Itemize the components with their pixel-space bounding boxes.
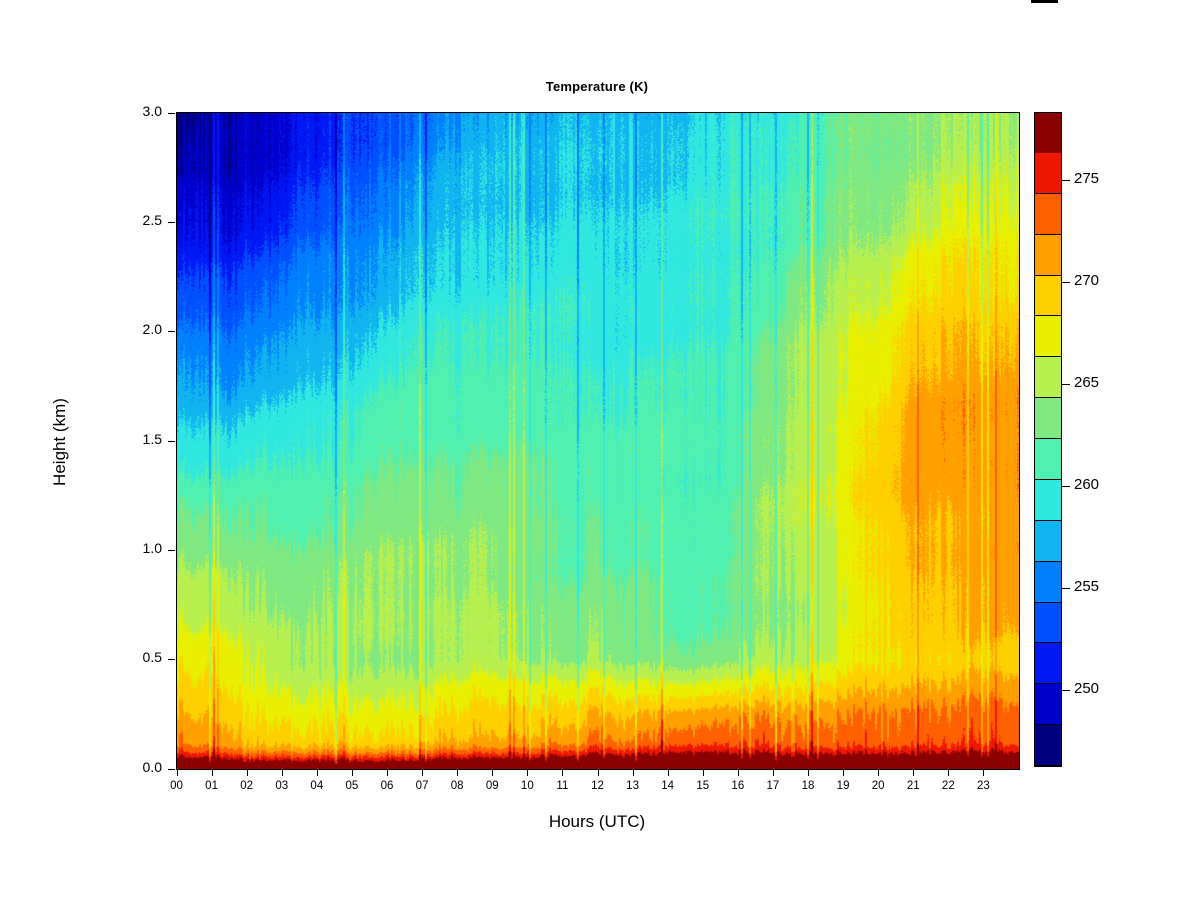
x-tick-label: 13: [613, 780, 653, 792]
colorbar-block: [1035, 603, 1061, 644]
y-tick-mark: [168, 331, 175, 332]
y-tick-label: 2.0: [112, 321, 162, 337]
y-tick-mark: [168, 222, 175, 223]
colorbar-block: [1035, 316, 1061, 357]
x-tick-label: 19: [823, 780, 863, 792]
x-tick-mark: [878, 769, 879, 776]
y-tick-mark: [168, 659, 175, 660]
x-tick-mark: [598, 769, 599, 776]
x-tick-label: 02: [227, 780, 267, 792]
x-tick-mark: [317, 769, 318, 776]
x-tick-mark: [492, 769, 493, 776]
x-tick-label: 06: [367, 780, 407, 792]
colorbar-block: [1035, 398, 1061, 439]
colorbar-tick-mark: [1062, 180, 1070, 181]
y-tick-mark: [168, 550, 175, 551]
colorbar-tick-label: 270: [1074, 272, 1099, 289]
top-bar-artifact: [1031, 0, 1058, 3]
colorbar-tick-mark: [1062, 588, 1070, 589]
x-tick-mark: [212, 769, 213, 776]
y-tick-label: 1.0: [112, 540, 162, 556]
x-tick-label: 09: [472, 780, 512, 792]
heatmap-plot-area: [176, 112, 1020, 770]
x-tick-label: 04: [297, 780, 337, 792]
x-tick-label: 18: [788, 780, 828, 792]
x-tick-mark: [703, 769, 704, 776]
x-tick-label: 20: [858, 780, 898, 792]
colorbar-tick-mark: [1062, 282, 1070, 283]
x-tick-label: 03: [262, 780, 302, 792]
colorbar-block: [1035, 562, 1061, 603]
x-tick-label: 14: [648, 780, 688, 792]
x-tick-mark: [668, 769, 669, 776]
x-tick-label: 01: [192, 780, 232, 792]
y-axis-title: Height (km): [50, 362, 70, 522]
x-tick-label: 17: [753, 780, 793, 792]
colorbar-block: [1035, 235, 1061, 276]
x-tick-mark: [457, 769, 458, 776]
x-tick-mark: [913, 769, 914, 776]
x-tick-mark: [562, 769, 563, 776]
x-tick-mark: [422, 769, 423, 776]
x-tick-mark: [352, 769, 353, 776]
x-axis-title: Hours (UTC): [176, 812, 1018, 832]
x-tick-label: 16: [718, 780, 758, 792]
plot-title: Temperature (K): [176, 79, 1018, 94]
colorbar: [1034, 112, 1062, 767]
colorbar-tick-label: 275: [1074, 170, 1099, 187]
figure-canvas: Temperature (K) Hours (UTC) Height (km) …: [0, 0, 1200, 900]
colorbar-tick-mark: [1062, 384, 1070, 385]
x-tick-mark: [387, 769, 388, 776]
y-tick-label: 0.0: [112, 759, 162, 775]
colorbar-block: [1035, 194, 1061, 235]
colorbar-block: [1035, 684, 1061, 725]
y-tick-label: 2.5: [112, 212, 162, 228]
colorbar-tick-mark: [1062, 486, 1070, 487]
x-tick-label: 11: [542, 780, 582, 792]
x-tick-mark: [738, 769, 739, 776]
colorbar-tick-label: 255: [1074, 578, 1099, 595]
y-tick-mark: [168, 769, 175, 770]
x-tick-label: 05: [332, 780, 372, 792]
colorbar-block: [1035, 357, 1061, 398]
x-tick-label: 08: [437, 780, 477, 792]
x-tick-label: 07: [402, 780, 442, 792]
y-tick-label: 0.5: [112, 649, 162, 665]
colorbar-block: [1035, 521, 1061, 562]
colorbar-tick-label: 260: [1074, 476, 1099, 493]
colorbar-block: [1035, 276, 1061, 317]
x-tick-label: 23: [963, 780, 1003, 792]
x-tick-mark: [773, 769, 774, 776]
x-tick-label: 22: [928, 780, 968, 792]
colorbar-block: [1035, 725, 1061, 766]
x-tick-mark: [808, 769, 809, 776]
y-tick-mark: [168, 441, 175, 442]
x-tick-mark: [633, 769, 634, 776]
colorbar-block: [1035, 643, 1061, 684]
colorbar-tick-label: 265: [1074, 374, 1099, 391]
x-tick-mark: [247, 769, 248, 776]
x-tick-mark: [282, 769, 283, 776]
x-tick-mark: [177, 769, 178, 776]
colorbar-block: [1035, 113, 1061, 153]
x-tick-label: 12: [578, 780, 618, 792]
x-tick-label: 21: [893, 780, 933, 792]
y-tick-label: 1.5: [112, 431, 162, 447]
x-tick-label: 00: [157, 780, 197, 792]
heatmap-image: [177, 113, 1019, 769]
x-tick-mark: [527, 769, 528, 776]
y-tick-mark: [168, 113, 175, 114]
colorbar-tick-label: 250: [1074, 680, 1099, 697]
colorbar-block: [1035, 153, 1061, 194]
colorbar-block: [1035, 439, 1061, 480]
x-tick-label: 15: [683, 780, 723, 792]
x-tick-mark: [983, 769, 984, 776]
y-tick-label: 3.0: [112, 103, 162, 119]
colorbar-block: [1035, 480, 1061, 521]
x-tick-mark: [843, 769, 844, 776]
x-tick-mark: [948, 769, 949, 776]
colorbar-tick-mark: [1062, 690, 1070, 691]
x-tick-label: 10: [507, 780, 547, 792]
